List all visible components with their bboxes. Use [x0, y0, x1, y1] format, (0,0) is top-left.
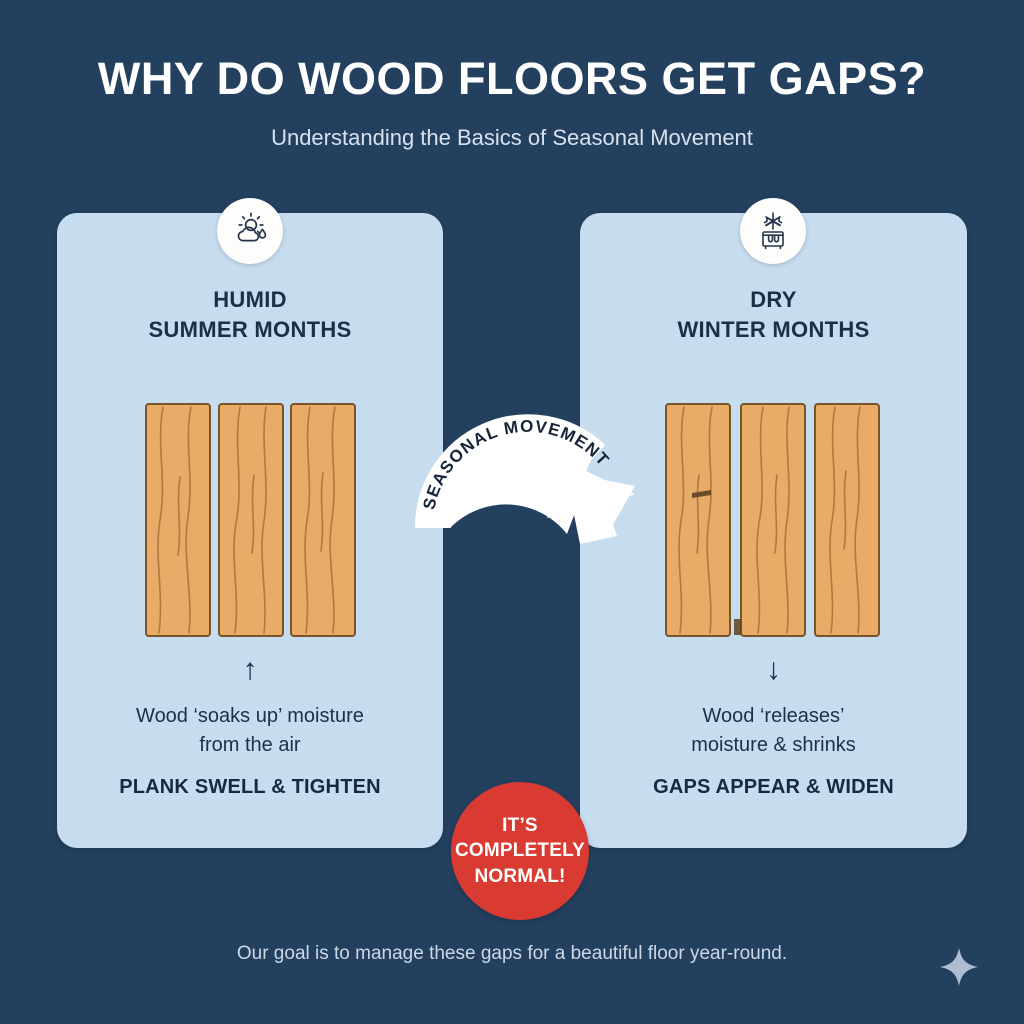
status-badge-text: IT’S COMPLETELY NORMAL!: [455, 813, 585, 890]
page-subtitle: Understanding the Basics of Seasonal Mov…: [0, 125, 1024, 151]
gap-shadow-mark: [734, 619, 741, 635]
panel-heading-line2: SUMMER MONTHS: [57, 315, 443, 345]
caption-line1: Wood ‘releases’: [600, 702, 947, 731]
badge-line1: IT’S: [455, 813, 585, 839]
plank: [665, 403, 731, 637]
badge-line2: COMPLETELY: [455, 838, 585, 864]
sparkle-icon: [936, 944, 982, 990]
panel-heading-line2: WINTER MONTHS: [580, 315, 967, 345]
plank-group-tight: [145, 403, 356, 637]
infographic-canvas: WHY DO WOOD FLOORS GET GAPS? Understandi…: [0, 0, 1024, 1024]
plank: [814, 403, 880, 637]
caption-line1: Wood ‘soaks up’ moisture: [77, 702, 423, 731]
status-badge-normal: IT’S COMPLETELY NORMAL!: [451, 782, 589, 920]
shrink-arrow-down-icon: ↓: [580, 655, 967, 685]
page-title: WHY DO WOOD FLOORS GET GAPS?: [0, 54, 1024, 104]
plank-group-gapped: [665, 403, 880, 637]
plank: [740, 403, 806, 637]
panel-outcome-dry-winter: GAPS APPEAR & WIDEN: [580, 776, 967, 799]
badge-line3: NORMAL!: [455, 864, 585, 890]
caption-line2: from the air: [77, 731, 423, 760]
plank: [145, 403, 211, 637]
panel-heading-humid-summer: HUMID SUMMER MONTHS: [57, 285, 443, 346]
plank: [218, 403, 284, 637]
panel-caption-humid-summer: Wood ‘soaks up’ moisture from the air: [77, 702, 423, 760]
panel-heading-line1: DRY: [580, 285, 967, 315]
panel-outcome-humid-summer: PLANK SWELL & TIGHTEN: [57, 776, 443, 799]
caption-line2: moisture & shrinks: [600, 731, 947, 760]
seasonal-movement-arch-arrow: SEASONAL MOVEMENT: [403, 368, 653, 548]
panel-heading-dry-winter: DRY WINTER MONTHS: [580, 285, 967, 346]
sun-cloud-raindrop-icon: [217, 198, 283, 264]
plank-knot-mark: [692, 490, 711, 498]
panel-caption-dry-winter: Wood ‘releases’ moisture & shrinks: [600, 702, 947, 760]
swell-arrow-up-icon: ↑: [57, 655, 443, 685]
footer-text: Our goal is to manage these gaps for a b…: [0, 943, 1024, 965]
panel-heading-line1: HUMID: [57, 285, 443, 315]
snowflake-radiator-icon: [740, 198, 806, 264]
plank: [290, 403, 356, 637]
